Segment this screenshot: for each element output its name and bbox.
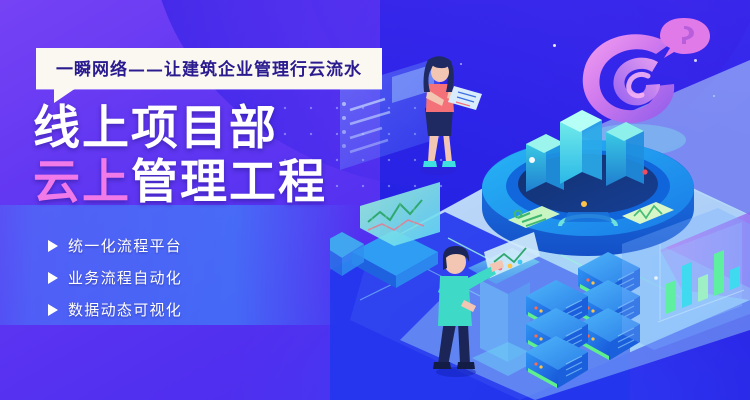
headline-line-2: 云上管理工程 (33, 155, 327, 209)
tagline-speech-bubble: 一瞬网络——让建筑企业管理行云流水 (36, 48, 382, 89)
triangle-arrow-icon (48, 240, 58, 252)
sparkle-dot (553, 44, 556, 47)
list-item: 数据动态可视化 (48, 297, 182, 322)
page-title: 线上项目部 云上管理工程 (33, 101, 327, 208)
list-item: 业务流程自动化 (48, 265, 182, 290)
feature-label: 统一化流程平台 (68, 235, 182, 256)
sparkle-dot (616, 43, 618, 45)
triangle-arrow-icon (48, 304, 58, 316)
list-item: 统一化流程平台 (48, 233, 182, 258)
promo-banner: 一瞬网络——让建筑企业管理行云流水 线上项目部 云上管理工程 统一化流程平台 业… (0, 0, 750, 400)
headline-rest: 管理工程 (131, 155, 327, 208)
feature-label: 业务流程自动化 (68, 267, 182, 288)
feature-label: 数据动态可视化 (68, 299, 182, 320)
sparkle-dot (694, 59, 697, 62)
headline-line-1: 线上项目部 (33, 101, 278, 154)
sparkle-dot (713, 95, 715, 97)
feature-list: 统一化流程平台 业务流程自动化 数据动态可视化 (48, 233, 182, 329)
headline-accent: 云上 (33, 155, 131, 208)
triangle-arrow-icon (48, 272, 58, 284)
sparkle-dot (460, 63, 462, 65)
